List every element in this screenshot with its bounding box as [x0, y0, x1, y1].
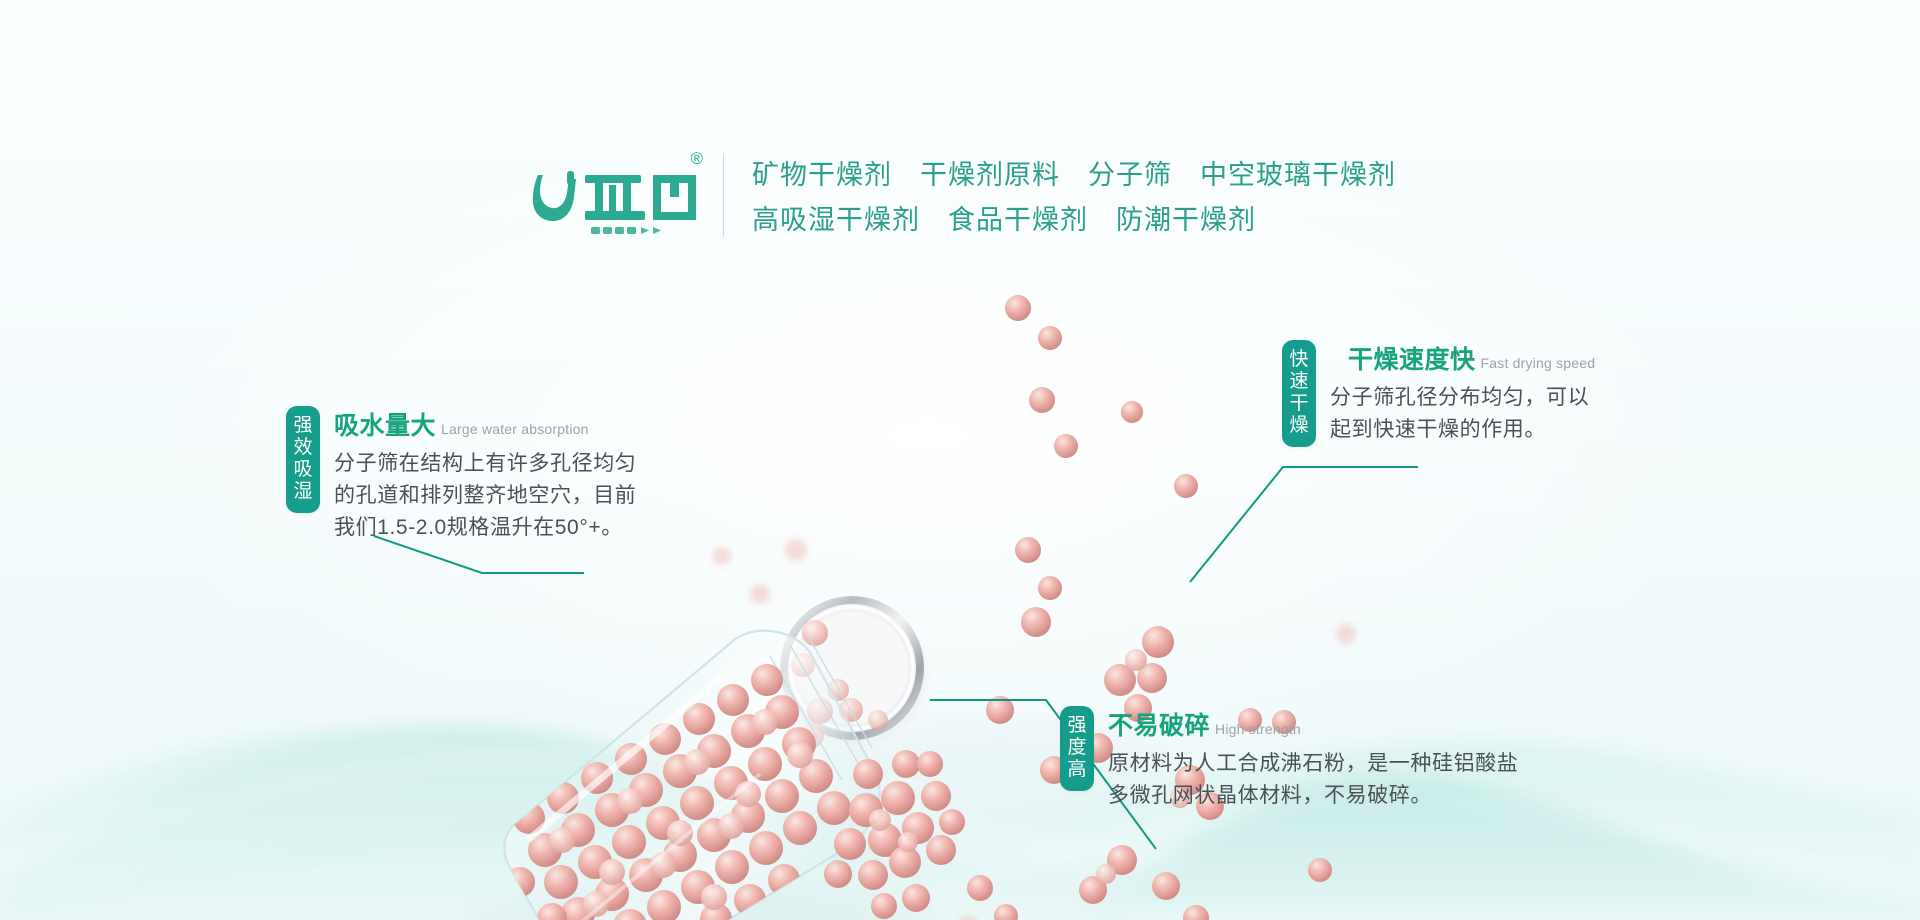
- nav-item-food-desiccant[interactable]: 食品干燥剂: [948, 198, 1088, 237]
- site-header: ® 矿物干燥剂 干燥剂原料 分子筛 中空玻璃干燥剂 高吸湿干燥剂 食品干燥剂 防…: [0, 140, 1920, 250]
- badge-strong-moisture-absorption: 强效 吸湿: [286, 406, 320, 513]
- brand-logo[interactable]: ®: [524, 145, 709, 245]
- annotation-high-strength: 强度 高 不易破碎 High strength 原材料为人工合成沸石粉，是一种硅…: [1060, 706, 1518, 812]
- keyword-nav: 矿物干燥剂 干燥剂原料 分子筛 中空玻璃干燥剂 高吸湿干燥剂 食品干燥剂 防潮干…: [752, 153, 1396, 237]
- annotation-subtitle: High strength: [1215, 721, 1301, 737]
- annotation-fast-drying-speed: 快速 干燥 干燥速度快 Fast drying speed 分子筛孔径分布均匀，…: [1282, 340, 1595, 447]
- nav-item-molecular-sieve[interactable]: 分子筛: [1088, 153, 1172, 192]
- nav-item-mineral-desiccant[interactable]: 矿物干燥剂: [752, 153, 892, 192]
- yaao-logo-icon: [529, 149, 704, 241]
- annotation-description: 分子筛孔径分布均匀，可以 起到快速干燥的作用。: [1330, 382, 1595, 446]
- nav-item-desiccant-material[interactable]: 干燥剂原料: [920, 153, 1060, 192]
- annotation-subtitle: Large water absorption: [441, 421, 589, 437]
- annotation-description: 分子筛在结构上有许多孔径均匀 的孔道和排列整齐地空穴，目前 我们1.5-2.0规…: [334, 448, 636, 544]
- nav-item-moisture-proof[interactable]: 防潮干燥剂: [1116, 198, 1256, 237]
- annotation-title: 吸水量大: [334, 406, 436, 442]
- annotation-subtitle: Fast drying speed: [1481, 355, 1596, 371]
- header-divider: [723, 153, 724, 237]
- annotation-title: 干燥速度快: [1348, 340, 1476, 376]
- keyword-row-2: 高吸湿干燥剂 食品干燥剂 防潮干燥剂: [752, 198, 1396, 237]
- keyword-row-1: 矿物干燥剂 干燥剂原料 分子筛 中空玻璃干燥剂: [752, 153, 1396, 192]
- nav-item-insulating-glass[interactable]: 中空玻璃干燥剂: [1200, 153, 1396, 192]
- product-photo: [0, 250, 1920, 920]
- badge-high-strength: 强度 高: [1060, 706, 1094, 791]
- nav-item-high-moisture[interactable]: 高吸湿干燥剂: [752, 198, 920, 237]
- annotation-description: 原材料为人工合成沸石粉，是一种硅铝酸盐 多微孔网状晶体材料，不易破碎。: [1108, 748, 1518, 812]
- registered-trademark-icon: ®: [690, 149, 703, 169]
- annotation-large-water-absorption: 强效 吸湿 吸水量大 Large water absorption 分子筛在结构…: [286, 406, 636, 544]
- badge-fast-drying: 快速 干燥: [1282, 340, 1316, 447]
- annotation-title: 不易破碎: [1108, 706, 1210, 742]
- banner-stage: ® 矿物干燥剂 干燥剂原料 分子筛 中空玻璃干燥剂 高吸湿干燥剂 食品干燥剂 防…: [0, 0, 1920, 920]
